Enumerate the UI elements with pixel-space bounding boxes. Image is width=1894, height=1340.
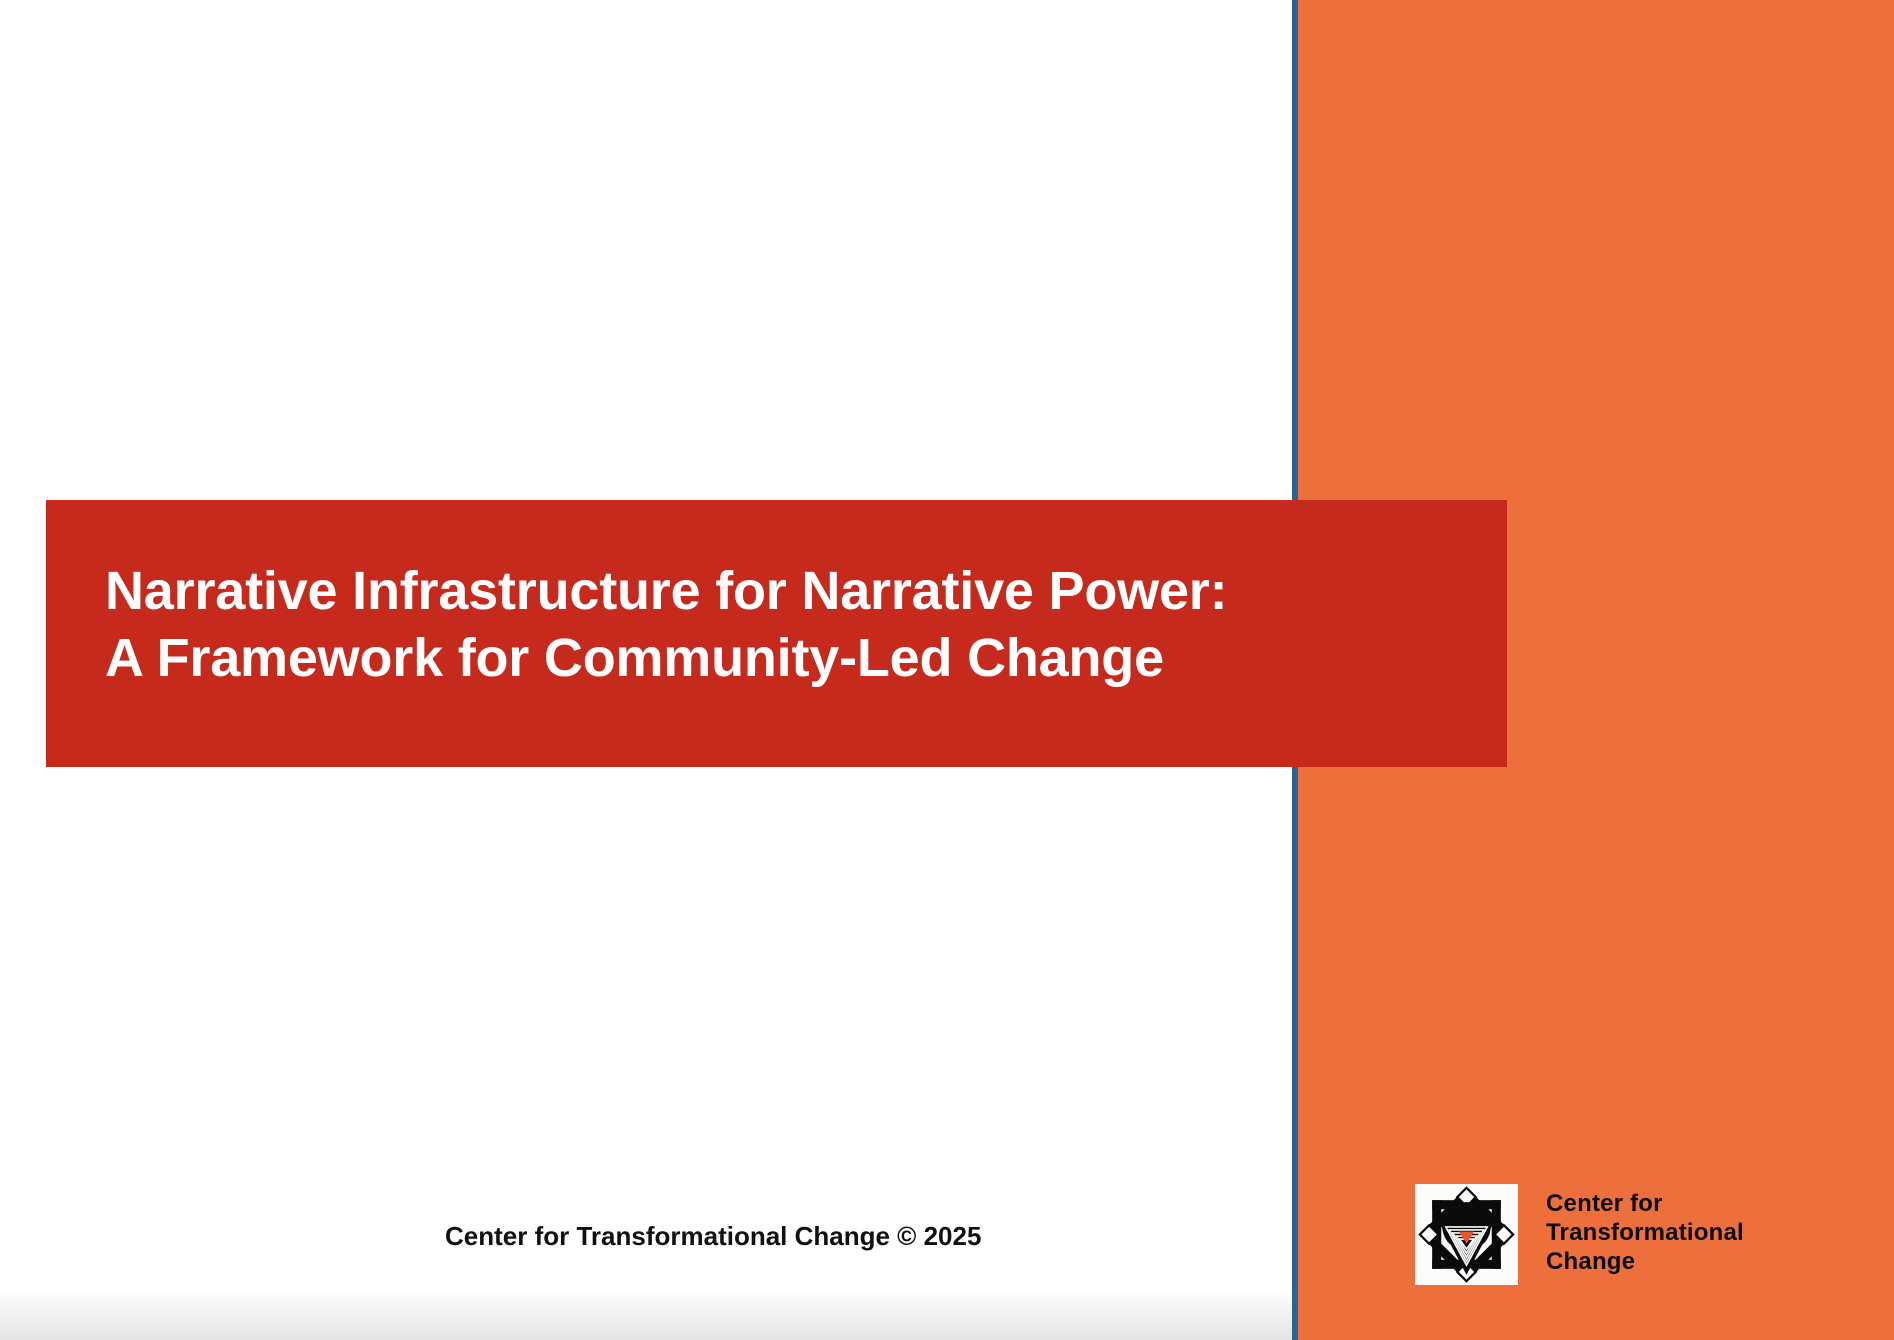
logo-wordmark: Center for Transformational Change bbox=[1546, 1189, 1744, 1276]
slide-canvas: Narrative Infrastructure for Narrative P… bbox=[0, 0, 1894, 1340]
ctc-mandala-icon bbox=[1415, 1184, 1518, 1285]
footer-copyright: Center for Transformational Change © 202… bbox=[445, 1219, 981, 1253]
slide-title: Narrative Infrastructure for Narrative P… bbox=[105, 558, 1507, 692]
bottom-edge-shade bbox=[0, 1288, 1292, 1340]
logo-lockup: Center for Transformational Change bbox=[1415, 1184, 1744, 1285]
title-banner: Narrative Infrastructure for Narrative P… bbox=[46, 500, 1507, 767]
